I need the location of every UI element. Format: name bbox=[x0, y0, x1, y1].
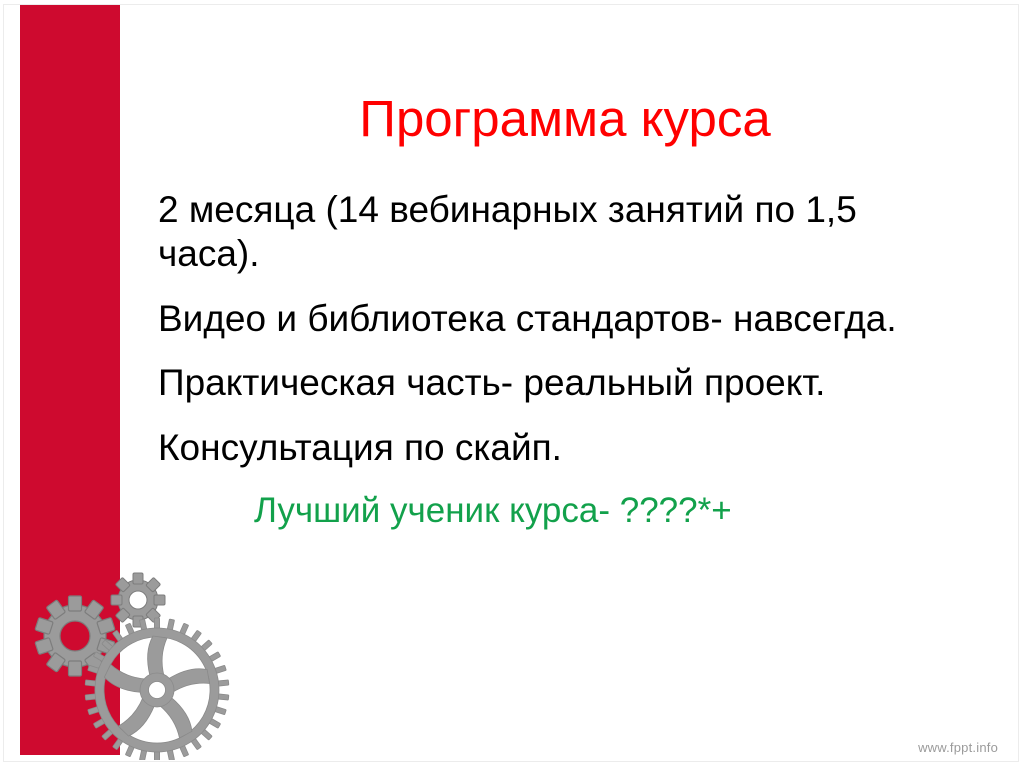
slide-title: Программа курса bbox=[120, 92, 1010, 146]
accent-band bbox=[20, 5, 120, 755]
slide-body: 2 месяца (14 вебинарных занятий по 1,5 ч… bbox=[158, 188, 968, 532]
bullet-item-1: 2 месяца (14 вебинарных занятий по 1,5 ч… bbox=[158, 188, 968, 277]
bullet-item-2: Видео и библиотека стандартов- навсегда. bbox=[158, 297, 968, 341]
bullet-item-3: Практическая часть- реальный проект. bbox=[158, 361, 968, 405]
highlight-line: Лучший ученик курса- ????*+ bbox=[254, 490, 968, 532]
bullet-item-4: Консультация по скайп. bbox=[158, 426, 968, 470]
presentation-slide: Программа курса 2 месяца (14 вебинарных … bbox=[0, 0, 1024, 767]
watermark-label: www.fppt.info bbox=[918, 740, 998, 755]
